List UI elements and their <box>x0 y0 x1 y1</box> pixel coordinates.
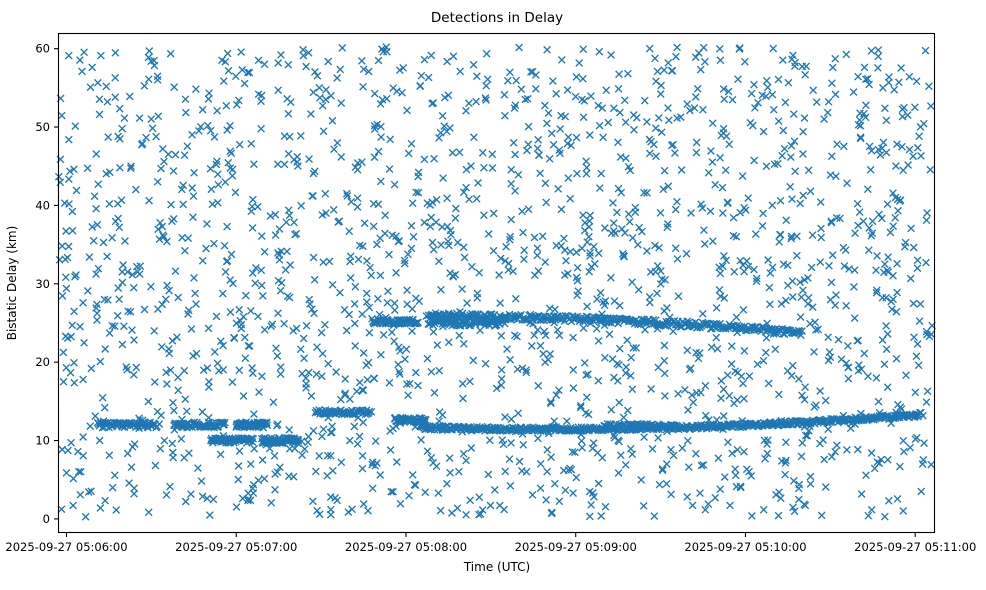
data-point <box>59 446 66 453</box>
data-point <box>112 74 119 81</box>
data-point <box>661 370 668 377</box>
data-point <box>542 259 549 266</box>
data-point <box>106 330 113 337</box>
data-point <box>845 343 852 350</box>
data-point <box>581 227 588 234</box>
data-point <box>498 376 505 383</box>
data-point <box>247 461 254 468</box>
data-point <box>161 158 168 165</box>
data-point <box>813 99 820 106</box>
data-point <box>603 87 610 94</box>
data-point <box>606 331 613 338</box>
data-point <box>133 364 140 371</box>
data-point <box>113 507 120 514</box>
data-point <box>714 346 721 353</box>
data-point <box>684 437 691 444</box>
data-point <box>476 494 483 501</box>
data-point <box>393 459 400 466</box>
data-point <box>415 173 422 180</box>
data-point <box>248 140 255 147</box>
data-point <box>551 418 558 425</box>
data-point <box>229 379 236 386</box>
data-point <box>397 500 404 507</box>
data-point <box>684 347 691 354</box>
data-point <box>205 96 212 103</box>
data-point <box>875 398 882 405</box>
data-point <box>502 468 509 475</box>
data-point <box>659 467 666 474</box>
data-point <box>800 192 807 199</box>
data-point <box>275 87 282 94</box>
data-point <box>474 290 481 297</box>
data-point <box>278 52 285 59</box>
data-point <box>409 328 416 335</box>
data-point <box>301 355 308 362</box>
data-point <box>172 151 179 158</box>
data-point <box>912 389 919 396</box>
data-point <box>760 128 767 135</box>
data-point <box>907 275 914 282</box>
data-point <box>311 276 318 283</box>
data-point <box>629 235 636 242</box>
data-point <box>405 150 412 157</box>
x-tick-label: 2025-09-27 05:06:00 <box>5 540 127 554</box>
data-point <box>424 448 431 455</box>
data-point <box>170 168 177 175</box>
data-point <box>446 455 453 462</box>
data-point <box>740 307 747 314</box>
data-point <box>880 139 887 146</box>
data-point <box>683 250 690 257</box>
data-point <box>375 295 382 302</box>
data-point <box>360 501 367 508</box>
data-point <box>271 453 278 460</box>
data-point <box>502 414 509 421</box>
data-point <box>417 82 424 89</box>
data-point <box>325 58 332 65</box>
data-point <box>751 157 758 164</box>
data-point <box>470 357 477 364</box>
data-point <box>276 257 283 264</box>
data-point <box>408 245 415 252</box>
data-point <box>154 77 161 84</box>
data-point <box>79 68 86 75</box>
data-point <box>399 89 406 96</box>
data-point <box>595 480 602 487</box>
data-point <box>675 390 682 397</box>
data-point <box>721 96 728 103</box>
data-point <box>312 69 319 76</box>
data-point <box>106 201 113 208</box>
data-point <box>256 389 263 396</box>
data-point <box>573 74 580 81</box>
data-point <box>354 195 361 202</box>
data-point <box>57 179 64 186</box>
data-point <box>732 466 739 473</box>
data-point <box>460 340 467 347</box>
data-point <box>190 214 197 221</box>
data-point <box>103 83 110 90</box>
y-tick-label: 40 <box>35 198 50 212</box>
data-point <box>172 268 179 275</box>
data-point <box>649 446 656 453</box>
data-point <box>832 55 839 62</box>
data-point <box>359 452 366 459</box>
data-point <box>598 513 605 520</box>
data-point <box>547 351 554 358</box>
data-point <box>709 159 716 166</box>
data-point <box>393 269 400 276</box>
data-point <box>913 78 920 85</box>
data-point <box>116 105 123 112</box>
data-point <box>884 384 891 391</box>
x-axis-label: Time (UTC) <box>463 560 530 574</box>
data-point <box>570 490 577 497</box>
data-point <box>635 241 642 248</box>
data-point <box>678 167 685 174</box>
data-point <box>129 327 136 334</box>
data-point <box>717 57 724 64</box>
data-point <box>616 399 623 406</box>
data-point <box>595 250 602 257</box>
data-point <box>96 96 103 103</box>
data-point <box>712 494 719 501</box>
data-point <box>211 349 218 356</box>
data-point <box>875 53 882 60</box>
data-point <box>548 454 555 461</box>
data-point <box>777 495 784 502</box>
data-point <box>733 314 740 321</box>
data-point <box>285 151 292 158</box>
data-point <box>760 210 767 217</box>
data-point <box>544 468 551 475</box>
data-point <box>391 181 398 188</box>
data-point <box>219 290 226 297</box>
data-point <box>588 93 595 100</box>
data-point <box>868 48 875 55</box>
data-point <box>728 361 735 368</box>
data-point <box>875 65 882 72</box>
data-point <box>807 188 814 195</box>
data-point <box>93 205 100 212</box>
data-point <box>812 319 819 326</box>
data-point <box>225 67 232 74</box>
data-point <box>182 109 189 116</box>
data-point <box>436 367 443 374</box>
data-point <box>337 396 344 403</box>
data-point <box>928 103 935 110</box>
data-point <box>928 461 935 468</box>
data-point <box>251 445 258 452</box>
data-point <box>444 480 451 487</box>
data-point <box>767 270 774 277</box>
data-point <box>558 206 565 213</box>
data-point <box>69 227 76 234</box>
data-point <box>516 458 523 465</box>
data-point <box>390 85 397 92</box>
data-point <box>346 228 353 235</box>
data-point <box>317 94 324 101</box>
data-point <box>581 360 588 367</box>
data-point <box>672 206 679 213</box>
data-point <box>404 107 411 114</box>
data-point <box>633 114 640 121</box>
data-point <box>745 195 752 202</box>
data-point <box>513 77 520 84</box>
data-point <box>789 196 796 203</box>
data-point <box>141 306 148 313</box>
data-point <box>311 168 318 175</box>
data-point <box>251 161 258 168</box>
data-point <box>858 491 865 498</box>
data-point <box>249 225 256 232</box>
data-point <box>532 86 539 93</box>
data-point <box>855 73 862 80</box>
data-point <box>235 463 242 470</box>
data-point <box>440 175 447 182</box>
data-point <box>299 452 306 459</box>
data-point <box>258 233 265 240</box>
data-point <box>363 290 370 297</box>
data-point <box>702 412 709 419</box>
data-point <box>250 196 257 203</box>
data-point <box>355 256 362 263</box>
data-point <box>365 507 372 514</box>
data-point <box>425 74 432 81</box>
data-point <box>674 256 681 263</box>
data-point <box>652 268 659 275</box>
data-point <box>601 225 608 232</box>
data-point <box>329 117 336 124</box>
data-point <box>56 256 63 263</box>
data-point <box>429 239 436 246</box>
data-point <box>104 253 111 260</box>
data-point <box>576 60 583 67</box>
data-point <box>387 428 394 435</box>
data-point <box>241 80 248 87</box>
data-point <box>740 380 747 387</box>
data-point <box>565 175 572 182</box>
data-point <box>854 337 861 344</box>
data-point <box>894 260 901 267</box>
data-point <box>504 77 511 84</box>
data-point <box>454 239 461 246</box>
data-point <box>501 506 508 513</box>
data-point <box>286 427 293 434</box>
data-point <box>693 149 700 156</box>
data-point <box>175 294 182 301</box>
data-point <box>829 64 836 71</box>
data-point <box>863 102 870 109</box>
data-point <box>674 44 681 51</box>
data-point <box>729 96 736 103</box>
data-point <box>104 98 111 105</box>
data-point <box>894 289 901 296</box>
data-point <box>596 185 603 192</box>
data-point <box>198 478 205 485</box>
data-point <box>693 139 700 146</box>
data-point <box>155 226 162 233</box>
data-point <box>852 230 859 237</box>
data-point <box>661 357 668 364</box>
data-point <box>80 376 87 383</box>
data-point <box>595 102 602 109</box>
data-point <box>209 201 216 208</box>
data-point <box>590 243 597 250</box>
data-point <box>189 185 196 192</box>
data-point <box>813 402 820 409</box>
data-point <box>580 325 587 332</box>
data-point <box>207 165 214 172</box>
data-point <box>303 63 310 70</box>
data-point <box>550 78 557 85</box>
data-point <box>214 171 221 178</box>
data-point <box>586 132 593 139</box>
data-point <box>615 185 622 192</box>
data-point <box>772 346 779 353</box>
data-point <box>685 464 692 471</box>
data-point <box>688 210 695 217</box>
data-point <box>561 235 568 242</box>
data-point <box>719 210 726 217</box>
data-point <box>368 272 375 279</box>
data-point <box>213 313 220 320</box>
data-point <box>389 329 396 336</box>
data-point <box>512 295 519 302</box>
data-point <box>762 349 769 356</box>
data-point <box>447 125 454 132</box>
data-point <box>245 343 252 350</box>
data-point <box>641 97 648 104</box>
data-point <box>780 127 787 134</box>
data-point <box>721 474 728 481</box>
data-point <box>70 475 77 482</box>
data-point <box>182 96 189 103</box>
data-point <box>719 184 726 191</box>
data-point <box>765 380 772 387</box>
data-point <box>769 202 776 209</box>
data-point <box>73 187 80 194</box>
data-point <box>408 222 415 229</box>
data-point <box>760 357 767 364</box>
data-point <box>783 217 790 224</box>
data-point <box>905 162 912 169</box>
data-point <box>58 112 65 119</box>
data-point <box>222 269 229 276</box>
data-point <box>542 180 549 187</box>
data-point <box>391 307 398 314</box>
data-point <box>467 497 474 504</box>
data-point <box>422 489 429 496</box>
data-point <box>115 285 122 292</box>
data-point <box>661 167 668 174</box>
data-point <box>65 52 72 59</box>
data-point <box>259 293 266 300</box>
data-point <box>554 327 561 334</box>
data-point <box>306 156 313 163</box>
data-point <box>94 317 101 324</box>
data-point <box>370 223 377 230</box>
data-point <box>624 337 631 344</box>
data-point <box>69 208 76 215</box>
data-point <box>669 67 676 74</box>
data-point <box>717 270 724 277</box>
data-point <box>220 78 227 85</box>
data-point <box>314 344 321 351</box>
data-point <box>100 239 107 246</box>
data-point <box>232 73 239 80</box>
data-point <box>403 346 410 353</box>
data-point <box>883 117 890 124</box>
data-point <box>116 224 123 231</box>
data-point <box>130 371 137 378</box>
data-point <box>709 238 716 245</box>
data-point <box>65 176 72 183</box>
data-point <box>844 180 851 187</box>
data-point <box>467 378 474 385</box>
data-point <box>190 353 197 360</box>
data-point <box>597 289 604 296</box>
data-point <box>65 243 72 250</box>
data-point <box>865 512 872 519</box>
data-point <box>535 136 542 143</box>
data-point <box>473 195 480 202</box>
data-point <box>255 57 262 64</box>
data-point <box>608 230 615 237</box>
data-point <box>504 346 511 353</box>
data-point <box>181 152 188 159</box>
data-point <box>90 237 97 244</box>
data-point <box>854 200 861 207</box>
data-point <box>319 350 326 357</box>
data-point <box>534 145 541 152</box>
data-point <box>145 76 152 83</box>
data-point <box>310 498 317 505</box>
data-point <box>402 356 409 363</box>
data-point <box>537 461 544 468</box>
data-point <box>437 507 444 514</box>
data-point <box>175 387 182 394</box>
data-point <box>352 343 359 350</box>
data-point <box>845 375 852 382</box>
data-point <box>893 163 900 170</box>
data-point <box>377 272 384 279</box>
data-point <box>608 274 615 281</box>
data-point <box>409 472 416 479</box>
data-point <box>640 503 647 510</box>
data-point <box>854 446 861 453</box>
data-point <box>850 89 857 96</box>
page-title: Detections in Delay <box>431 10 563 26</box>
data-point <box>692 54 699 61</box>
data-point <box>286 473 293 480</box>
data-point <box>193 350 200 357</box>
data-point <box>789 294 796 301</box>
data-point <box>236 448 243 455</box>
data-point <box>580 46 587 53</box>
data-point <box>895 401 902 408</box>
data-point <box>489 151 496 158</box>
data-point <box>236 367 243 374</box>
data-point <box>118 197 125 204</box>
data-point <box>724 200 731 207</box>
data-point <box>186 450 193 457</box>
data-point <box>508 416 515 423</box>
data-point <box>247 308 254 315</box>
data-point <box>743 466 750 473</box>
data-point <box>779 152 786 159</box>
data-point <box>797 314 804 321</box>
